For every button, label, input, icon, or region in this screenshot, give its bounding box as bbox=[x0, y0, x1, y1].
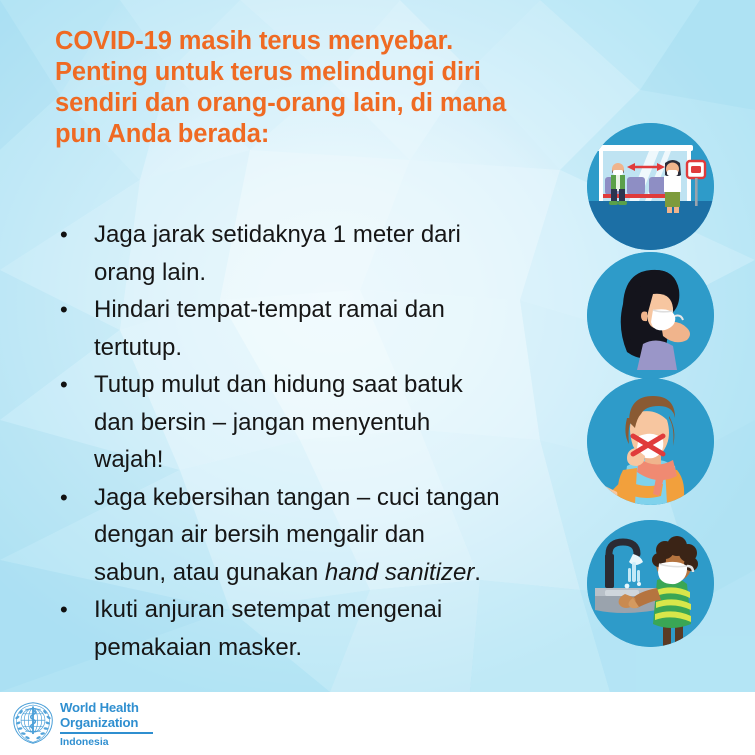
list-item-line: dan bersin – jangan menyentuh bbox=[94, 404, 560, 442]
list-item-text: Ikuti anjuran setempat mengenai pemakaia… bbox=[94, 591, 560, 666]
list-item-line: dengan air bersih mengalir dan bbox=[94, 516, 560, 554]
who-name-line-2: Organization bbox=[60, 716, 160, 731]
list-item: • Jaga kebersihan tangan – cuci tangan d… bbox=[52, 479, 560, 592]
list-item-line: Jaga jarak setidaknya 1 meter dari bbox=[94, 216, 560, 254]
list-item-text: Hindari tempat-tempat ramai dan tertutup… bbox=[94, 291, 560, 366]
bullet-icon: • bbox=[60, 366, 68, 404]
list-item: • Jaga jarak setidaknya 1 meter dari ora… bbox=[52, 216, 560, 291]
list-item-line: wajah! bbox=[94, 441, 560, 479]
who-logo: World Health Organization Indonesia bbox=[10, 698, 160, 750]
list-item-line-mixed: sabun, atau gunakan hand sanitizer. bbox=[94, 554, 560, 592]
bullet-icon: • bbox=[60, 479, 68, 517]
headline-line-1: COVID-19 masih terus menyebar. bbox=[55, 26, 575, 57]
who-name-line-1: World Health bbox=[60, 701, 160, 716]
who-emblem-icon bbox=[10, 700, 56, 746]
list-item-line-emphasis: hand sanitizer bbox=[325, 559, 474, 586]
poster-canvas: COVID-19 masih terus menyebar. Penting u… bbox=[0, 0, 755, 755]
list-item-line: Ikuti anjuran setempat mengenai bbox=[94, 591, 560, 629]
who-country-label: Indonesia bbox=[60, 736, 160, 749]
who-divider bbox=[60, 732, 153, 734]
list-item: • Hindari tempat-tempat ramai dan tertut… bbox=[52, 291, 560, 366]
wear-mask-icon bbox=[587, 252, 714, 379]
bullet-icon: • bbox=[60, 216, 68, 254]
list-item-text: Jaga kebersihan tangan – cuci tangan den… bbox=[94, 479, 560, 592]
headline-line-4: pun Anda berada: bbox=[55, 119, 575, 150]
cover-cough-icon bbox=[587, 378, 714, 505]
bullet-icon: • bbox=[60, 291, 68, 329]
list-item-line: pemakaian masker. bbox=[94, 629, 560, 667]
list-item: • Ikuti anjuran setempat mengenai pemaka… bbox=[52, 591, 560, 666]
physical-distancing-icon bbox=[587, 123, 714, 250]
list-item-line: Jaga kebersihan tangan – cuci tangan bbox=[94, 479, 560, 517]
headline-line-3: sendiri dan orang-orang lain, di mana bbox=[55, 88, 575, 119]
who-wordmark: World Health Organization Indonesia bbox=[60, 701, 160, 749]
bullet-icon: • bbox=[60, 591, 68, 629]
headline-line-2: Penting untuk terus melindungi diri bbox=[55, 57, 575, 88]
list-item-line: Hindari tempat-tempat ramai dan bbox=[94, 291, 560, 329]
advice-list: • Jaga jarak setidaknya 1 meter dari ora… bbox=[52, 216, 560, 666]
page-title: COVID-19 masih terus menyebar. Penting u… bbox=[55, 26, 575, 150]
list-item-line: orang lain. bbox=[94, 254, 560, 292]
list-item-line-suffix: . bbox=[474, 559, 481, 586]
list-item-text: Tutup mulut dan hidung saat batuk dan be… bbox=[94, 366, 560, 479]
list-item-line-prefix: sabun, atau gunakan bbox=[94, 559, 325, 586]
list-item: • Tutup mulut dan hidung saat batuk dan … bbox=[52, 366, 560, 479]
list-item-text: Jaga jarak setidaknya 1 meter dari orang… bbox=[94, 216, 560, 291]
list-item-line: tertutup. bbox=[94, 329, 560, 367]
list-item-line: Tutup mulut dan hidung saat batuk bbox=[94, 366, 560, 404]
footer-bar: World Health Organization Indonesia #Sta… bbox=[0, 692, 755, 755]
wash-hands-icon bbox=[587, 520, 714, 647]
